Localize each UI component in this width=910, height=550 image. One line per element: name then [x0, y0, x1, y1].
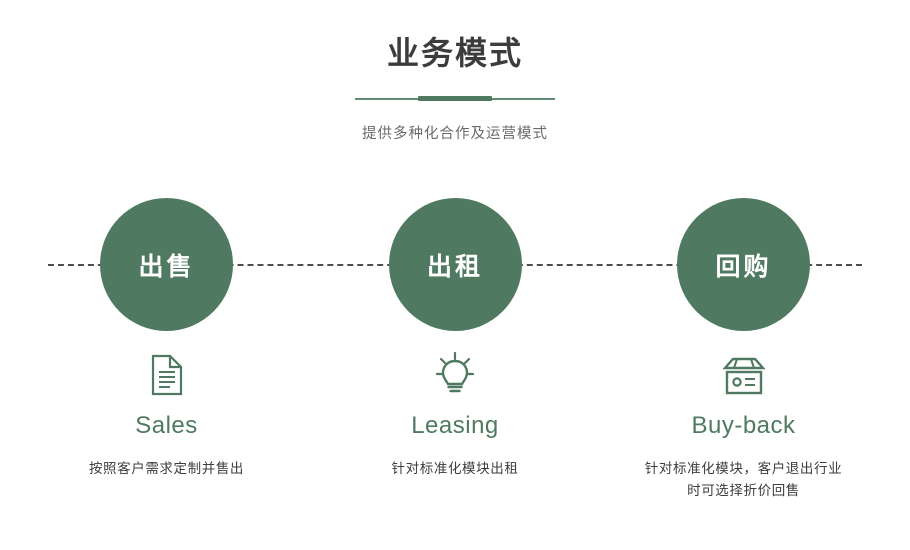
node-en-label: Sales — [40, 412, 293, 440]
page-title: 业务模式 — [0, 34, 910, 72]
title-divider — [355, 94, 555, 104]
node-circle-row: 出售 出租 回购 — [0, 180, 910, 350]
node-circle-label: 出售 — [138, 247, 194, 283]
slide-header: 业务模式 提供多种化合作及运营模式 — [0, 0, 910, 143]
open-box-icon — [617, 350, 870, 396]
process-diagram: 出售 出租 回购 — [0, 180, 910, 350]
node-circle-label: 回购 — [715, 247, 771, 283]
node-description: 按照客户需求定制并售出 — [40, 458, 293, 480]
node-detail-sales: Sales 按照客户需求定制并售出 — [40, 350, 293, 503]
node-circle-sales[interactable]: 出售 — [100, 198, 233, 331]
node-circle-buyback[interactable]: 回购 — [677, 198, 810, 331]
node-detail-leasing: Leasing 针对标准化模块出租 — [329, 350, 582, 503]
node-detail-buyback: Buy-back 针对标准化模块，客户退出行业时可选择折价回售 — [617, 350, 870, 503]
node-description: 针对标准化模块，客户退出行业时可选择折价回售 — [617, 458, 870, 503]
node-circle-label: 出租 — [427, 247, 483, 283]
page-subtitle: 提供多种化合作及运营模式 — [0, 122, 910, 143]
divider-accent-bar — [418, 96, 492, 101]
node-en-label: Buy-back — [617, 412, 870, 440]
node-detail-row: Sales 按照客户需求定制并售出 Leasing 针对标准化模块出租 — [0, 350, 910, 503]
node-circle-leasing[interactable]: 出租 — [389, 198, 522, 331]
slide-canvas: 业务模式 提供多种化合作及运营模式 出售 出租 回购 — [0, 0, 910, 550]
node-en-label: Leasing — [329, 412, 582, 440]
lightbulb-icon — [329, 350, 582, 396]
node-description: 针对标准化模块出租 — [329, 458, 582, 480]
document-icon — [40, 350, 293, 396]
